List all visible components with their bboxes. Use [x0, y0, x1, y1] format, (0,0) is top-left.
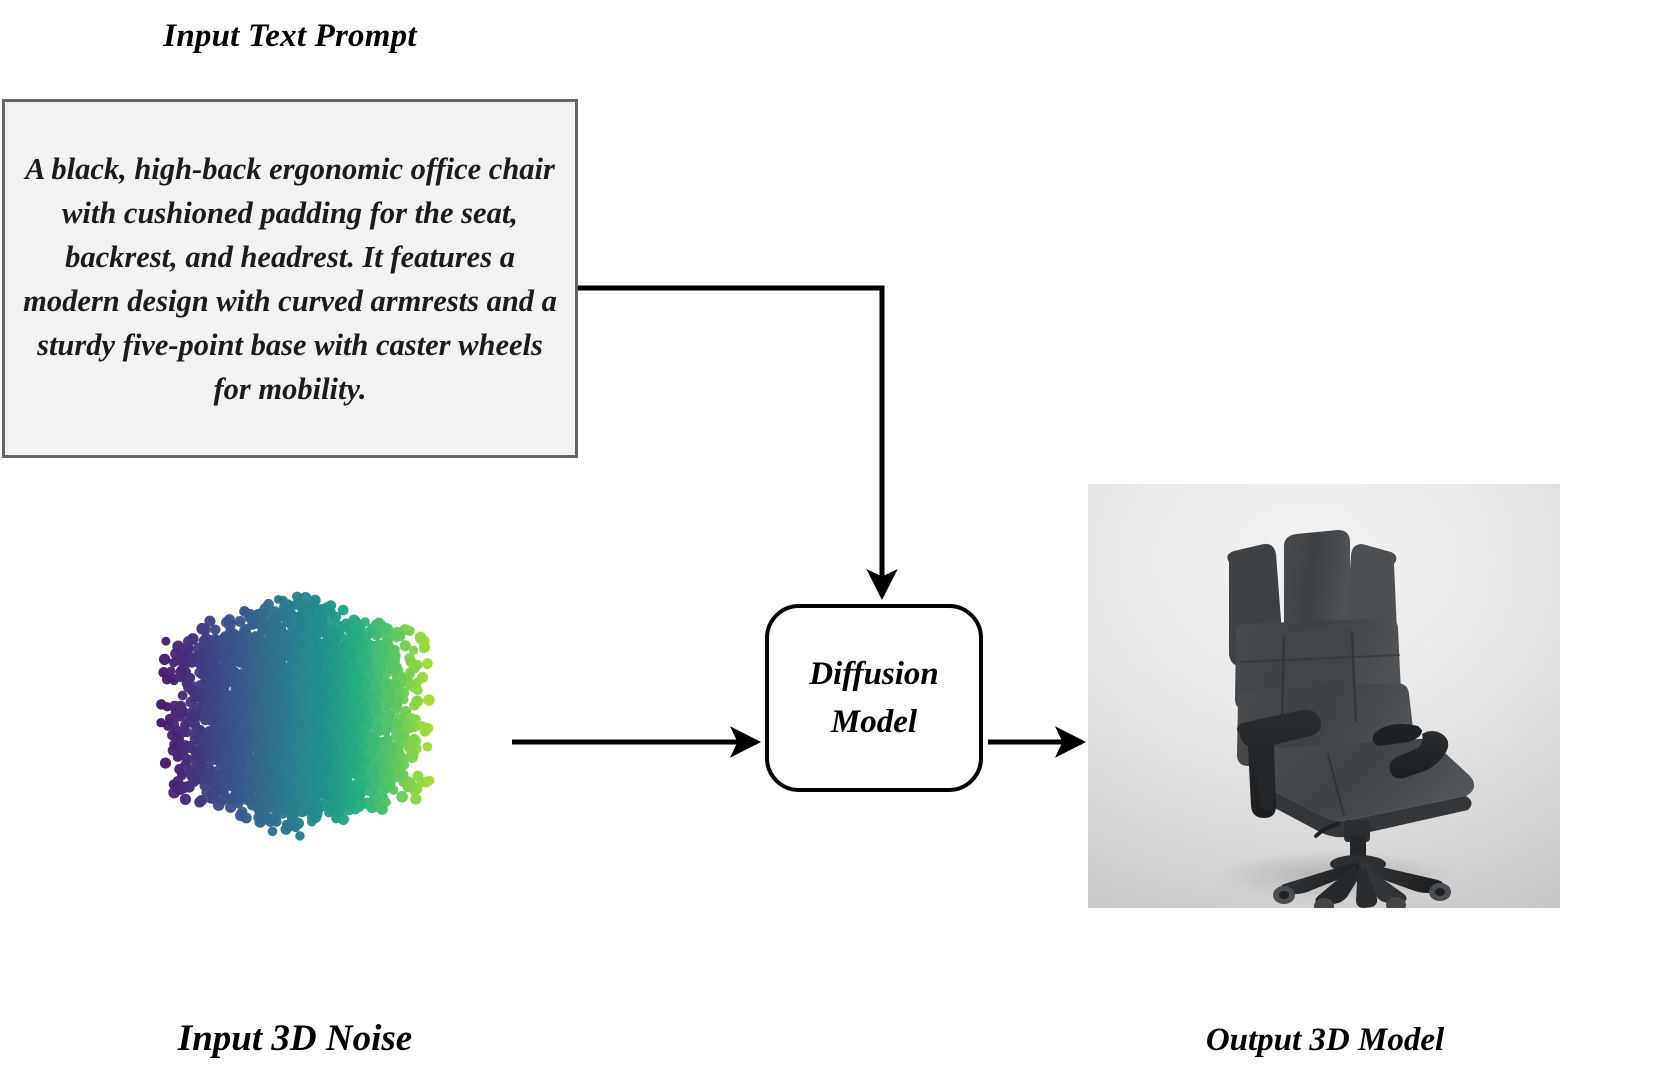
- input-3d-noise-caption: Input 3D Noise: [70, 1017, 520, 1060]
- diffusion-model-node: Diffusion Model: [765, 604, 983, 792]
- diffusion-model-label-line2: Model: [831, 704, 917, 740]
- output-3d-model-render: [1088, 484, 1560, 908]
- diffusion-model-label: Diffusion Model: [809, 650, 939, 746]
- prompt-text-box: A black, high-back ergonomic office chai…: [2, 99, 578, 458]
- noise-point-cloud: [78, 470, 518, 940]
- diffusion-model-label-line1: Diffusion: [809, 656, 939, 692]
- connector-prompt-to-model: [578, 288, 882, 596]
- prompt-text-content: A black, high-back ergonomic office chai…: [5, 147, 575, 411]
- input-text-prompt-title: Input Text Prompt: [0, 18, 580, 55]
- diagram-canvas: Input Text Prompt A black, high-back erg…: [0, 0, 1661, 1091]
- output-3d-model-caption: Output 3D Model: [1090, 1022, 1560, 1059]
